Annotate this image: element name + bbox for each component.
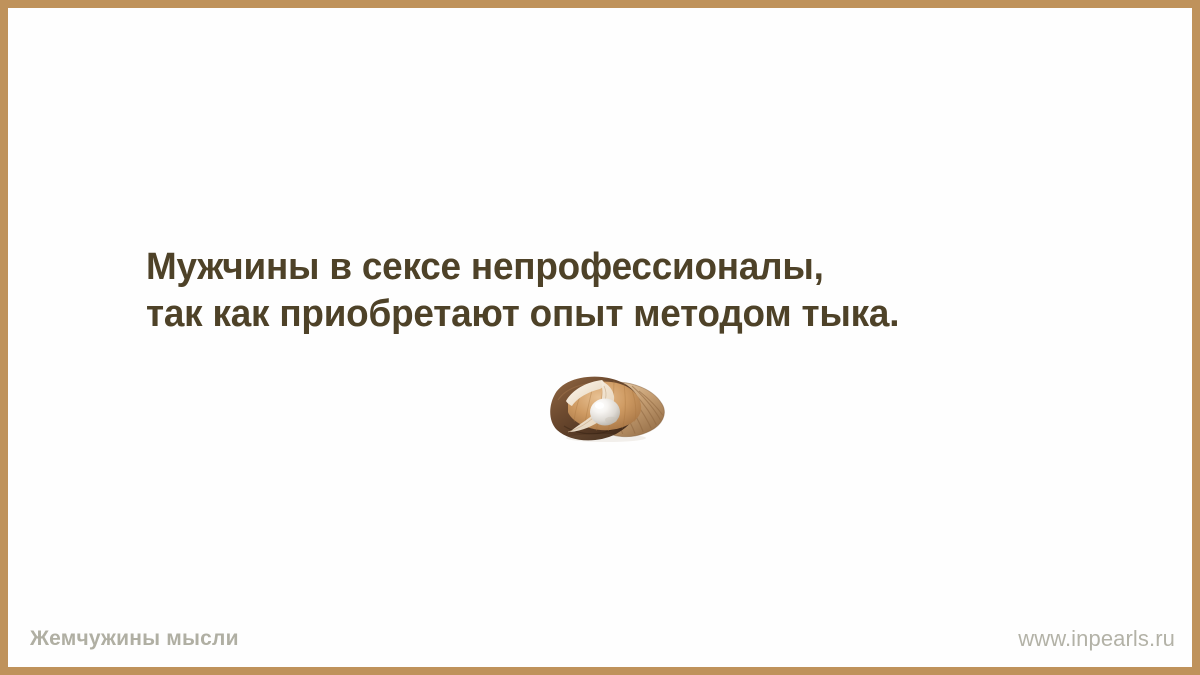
pearl [590,399,620,426]
footer-site-url-link[interactable]: www.inpearls.ru [1018,626,1175,652]
quote-line-2: так как приобретают опыт методом тыка. [146,291,1077,338]
quote-line-1: Мужчины в сексе непрофессионалы, [146,244,1077,291]
footer-brand-label: Жемчужины мысли [30,626,239,652]
quote-text-block: Мужчины в сексе непрофессионалы, так как… [146,244,1106,338]
quote-card: Мужчины в сексе непрофессионалы, так как… [0,0,1200,675]
oyster-shell-with-pearl-icon [544,374,668,444]
